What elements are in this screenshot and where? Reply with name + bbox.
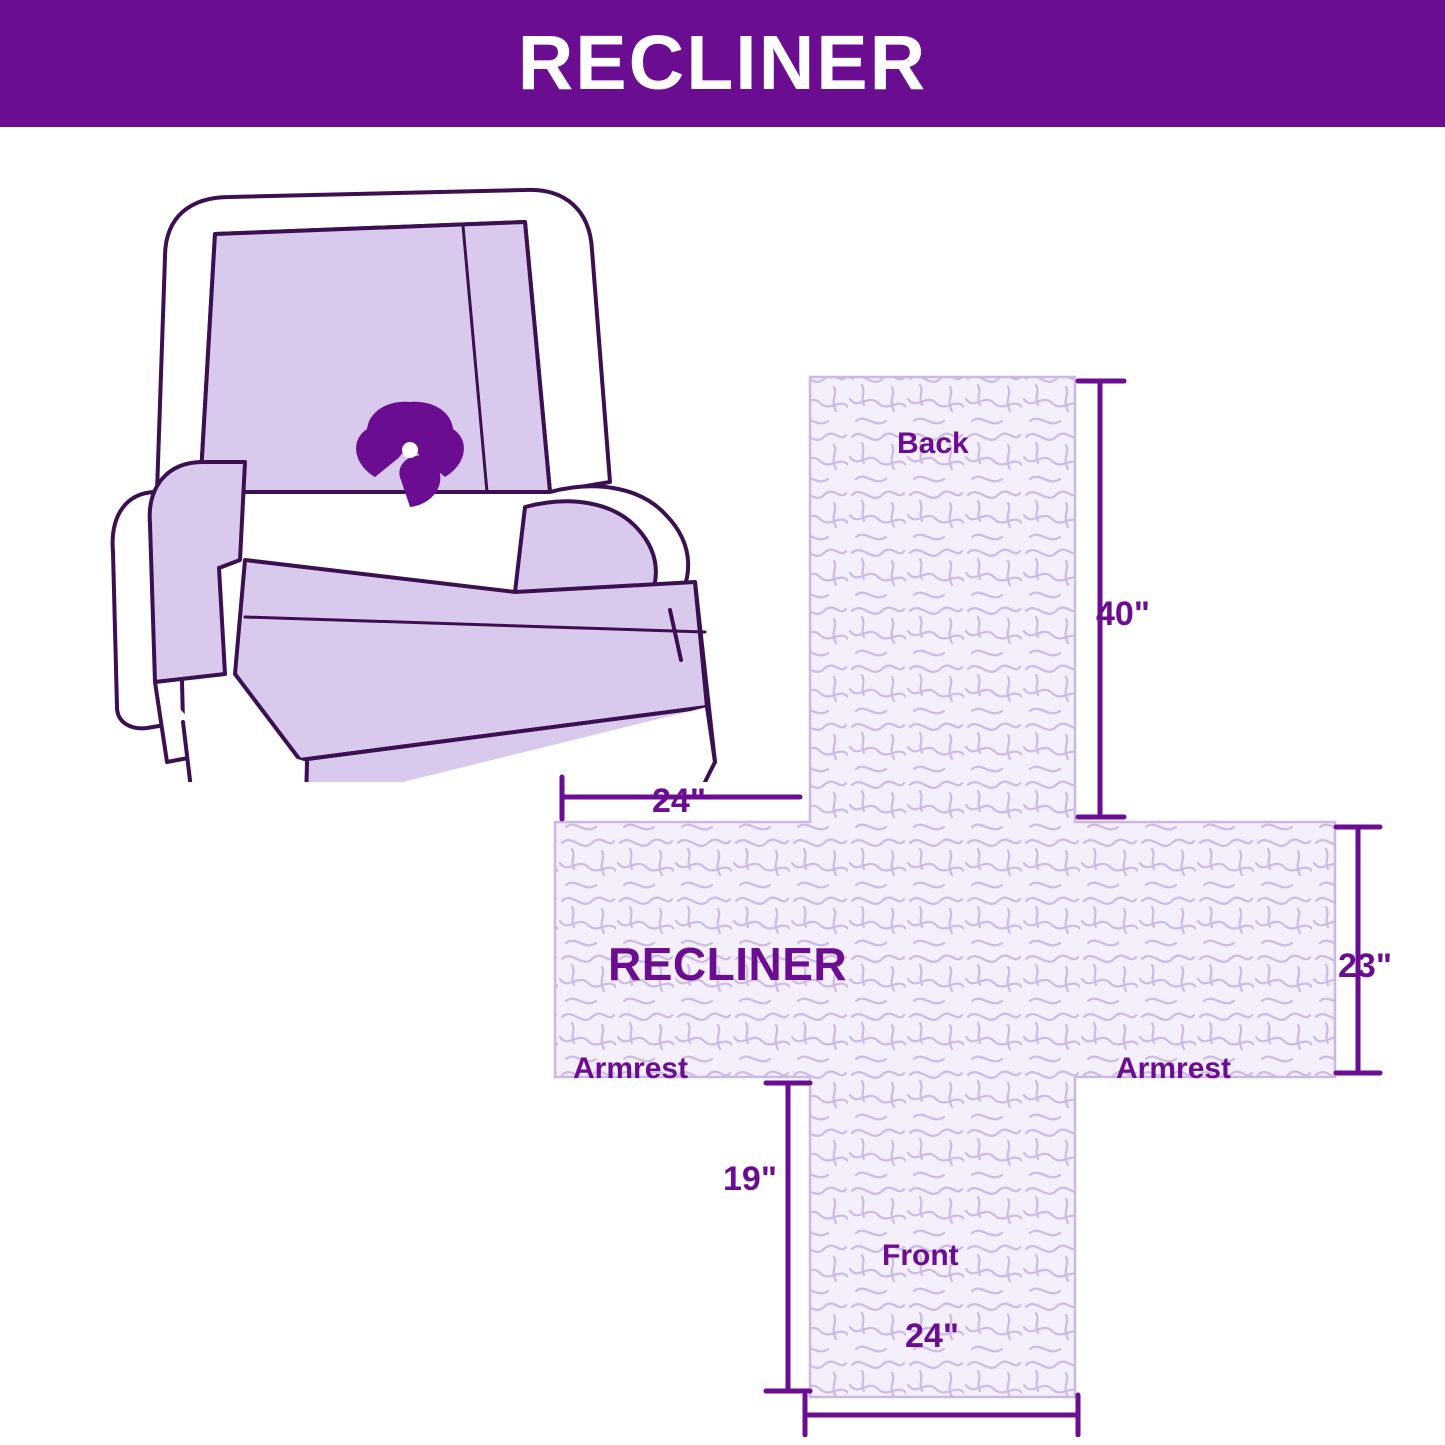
- cover-flat-layout: [500, 367, 1400, 1437]
- label-front: Front: [882, 1239, 959, 1273]
- dimension-armrest-height: 23": [1338, 947, 1392, 986]
- dimension-front-height: 19": [723, 1160, 777, 1199]
- label-back: Back: [897, 427, 969, 461]
- dimension-front-width: 24": [905, 1317, 959, 1356]
- dimension-back-height: 40": [1096, 595, 1150, 634]
- diagram-canvas: Back 40" 24" RECLINER 23" Armrest Armres…: [0, 127, 1445, 1445]
- dimension-back-width: 24": [652, 782, 706, 821]
- header-bar: RECLINER: [0, 0, 1445, 127]
- layout-center-label: RECLINER: [608, 937, 847, 991]
- label-armrest-left: Armrest: [573, 1052, 688, 1086]
- page-title: RECLINER: [518, 25, 928, 102]
- label-armrest-right: Armrest: [1116, 1052, 1231, 1086]
